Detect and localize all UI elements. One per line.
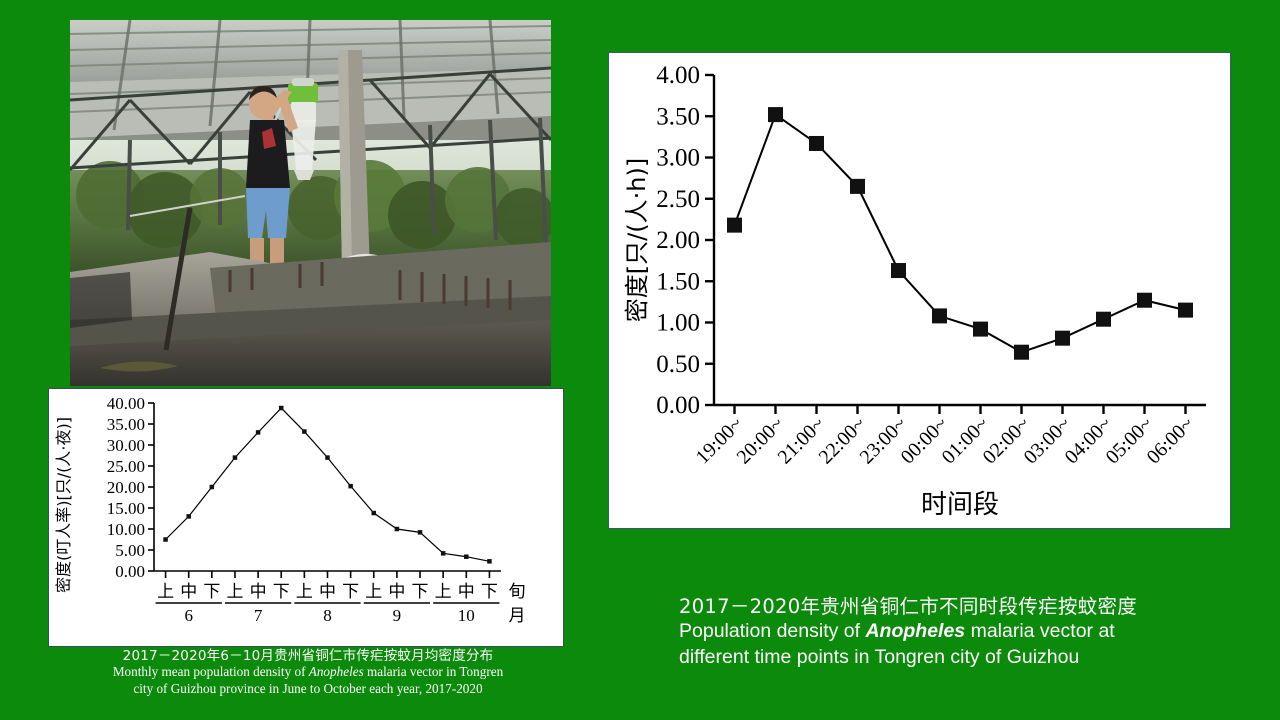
- x-axis-tick-label: 06:00~: [1143, 413, 1199, 469]
- x-axis-decad-label: 上: [296, 582, 313, 602]
- data-point-marker: [892, 264, 906, 278]
- y-axis-tick-label: 15.00: [107, 499, 145, 518]
- data-point-marker: [1056, 331, 1070, 345]
- monthly-caption-genus: Anopheles: [309, 664, 364, 679]
- x-axis-decad-label: 中: [388, 582, 405, 602]
- data-point-marker: [810, 136, 824, 150]
- monthly-caption-en-post: malaria vector in Tongren: [364, 664, 503, 679]
- y-axis-tick-label: 25.00: [107, 457, 145, 476]
- x-axis-decad-label: 下: [481, 582, 498, 602]
- y-axis-tick-label: 2.50: [656, 186, 700, 213]
- slide-canvas: 0.005.0010.0015.0020.0025.0030.0035.0040…: [0, 0, 1280, 720]
- x-axis-decad-label: 中: [458, 582, 475, 602]
- x-axis-unit-month: 月: [509, 606, 526, 626]
- field-photo-image: [70, 20, 551, 386]
- data-point-marker: [1015, 345, 1029, 359]
- x-axis-month-label: 9: [393, 606, 402, 625]
- data-point-marker: [728, 218, 742, 232]
- series-line: [166, 408, 490, 561]
- data-point-marker: [348, 484, 353, 489]
- y-axis-tick-label: 5.00: [115, 541, 145, 560]
- data-point-marker: [163, 537, 168, 542]
- x-axis-decad-label: 下: [273, 582, 290, 602]
- data-point-marker: [186, 514, 191, 519]
- data-point-marker: [974, 322, 988, 336]
- y-axis-tick-label: 3.50: [656, 103, 700, 130]
- data-point-marker: [256, 430, 261, 435]
- data-point-marker: [302, 429, 307, 434]
- hourly-caption-cn: 2017－2020年贵州省铜仁市不同时段传疟按蚊密度: [679, 594, 1239, 619]
- y-axis-tick-label: 10.00: [107, 520, 145, 539]
- monthly-caption-en-pre: Monthly mean population density of: [113, 664, 309, 679]
- hourly-chart-caption: 2017－2020年贵州省铜仁市不同时段传疟按蚊密度 Population de…: [679, 594, 1239, 670]
- data-point-marker: [1138, 293, 1152, 307]
- y-axis-tick-label: 0.50: [656, 351, 700, 378]
- x-axis-month-label: 8: [323, 606, 332, 625]
- y-axis-title: 密度[只/(人·h)]: [623, 158, 651, 322]
- monthly-density-chart-panel: 0.005.0010.0015.0020.0025.0030.0035.0040…: [48, 388, 564, 647]
- data-point-marker: [325, 455, 330, 460]
- hourly-caption-en-line2: different time points in Tongren city of…: [679, 645, 1239, 670]
- data-point-marker: [1097, 312, 1111, 326]
- hourly-caption-genus: Anopheles: [865, 620, 965, 642]
- data-point-marker: [769, 108, 783, 122]
- data-point-marker: [279, 406, 284, 411]
- x-axis-month-label: 7: [254, 606, 263, 625]
- hourly-caption-en-post: malaria vector at: [965, 620, 1115, 642]
- hourly-density-chart-panel: 0.000.501.001.502.002.503.003.504.0019:0…: [608, 52, 1231, 529]
- x-axis-decad-label: 上: [157, 582, 174, 602]
- y-axis-tick-label: 0.00: [115, 562, 145, 581]
- y-axis-title: 密度(叮人率)[只/(人·夜)]: [54, 417, 73, 593]
- data-point-marker: [210, 485, 215, 490]
- x-axis-decad-label: 上: [365, 582, 382, 602]
- data-point-marker: [933, 309, 947, 323]
- monthly-caption-en-line1: Monthly mean population density of Anoph…: [60, 664, 556, 680]
- x-axis-month-label: 10: [458, 606, 475, 625]
- y-axis-tick-label: 0.00: [656, 392, 700, 419]
- data-point-marker: [851, 179, 865, 193]
- monthly-chart-caption: 2017－2020年6－10月贵州省铜仁市传疟按蚊月均密度分布 Monthly …: [60, 648, 556, 697]
- x-axis-decad-label: 上: [435, 582, 452, 602]
- y-axis-tick-label: 3.00: [656, 145, 700, 172]
- data-point-marker: [441, 551, 446, 556]
- monthly-density-chart: 0.005.0010.0015.0020.0025.0030.0035.0040…: [49, 389, 563, 646]
- y-axis-tick-label: 40.00: [107, 394, 145, 413]
- y-axis-tick-label: 1.50: [656, 268, 700, 295]
- x-axis-decad-label: 上: [226, 582, 243, 602]
- y-axis-tick-label: 35.00: [107, 415, 145, 434]
- y-axis-tick-label: 2.00: [656, 227, 700, 254]
- hourly-density-chart: 0.000.501.001.502.002.503.003.504.0019:0…: [609, 53, 1230, 528]
- x-axis-decad-label: 中: [250, 582, 267, 602]
- monthly-caption-cn: 2017－2020年6－10月贵州省铜仁市传疟按蚊月均密度分布: [60, 648, 556, 664]
- x-axis-decad-label: 下: [342, 582, 359, 602]
- x-axis-decad-label: 下: [203, 582, 220, 602]
- x-axis-title: 时间段: [921, 490, 999, 520]
- trough: [70, 272, 132, 328]
- x-axis-month-label: 6: [184, 606, 193, 625]
- data-point-marker: [418, 530, 423, 535]
- hourly-caption-en-pre: Population density of: [679, 620, 865, 642]
- y-axis-tick-label: 20.00: [107, 478, 145, 497]
- x-axis-decad-label: 下: [412, 582, 429, 602]
- data-point-marker: [464, 554, 469, 559]
- hourly-caption-en-line1: Population density of Anopheles malaria …: [679, 619, 1239, 644]
- series-line: [735, 115, 1186, 353]
- data-point-marker: [395, 527, 400, 532]
- monthly-caption-en-line2: city of Guizhou province in June to Octo…: [60, 681, 556, 697]
- y-axis-tick-label: 30.00: [107, 436, 145, 455]
- y-axis-tick-label: 4.00: [656, 62, 700, 89]
- data-point-marker: [233, 455, 238, 460]
- x-axis-decad-label: 中: [180, 582, 197, 602]
- y-axis-tick-label: 1.00: [656, 310, 700, 337]
- x-axis-decad-label: 中: [319, 582, 336, 602]
- data-point-marker: [487, 559, 492, 564]
- field-photo: [70, 20, 551, 386]
- data-point-marker: [1179, 303, 1193, 317]
- data-point-marker: [372, 511, 377, 515]
- x-axis-unit-decad: 旬: [509, 582, 526, 602]
